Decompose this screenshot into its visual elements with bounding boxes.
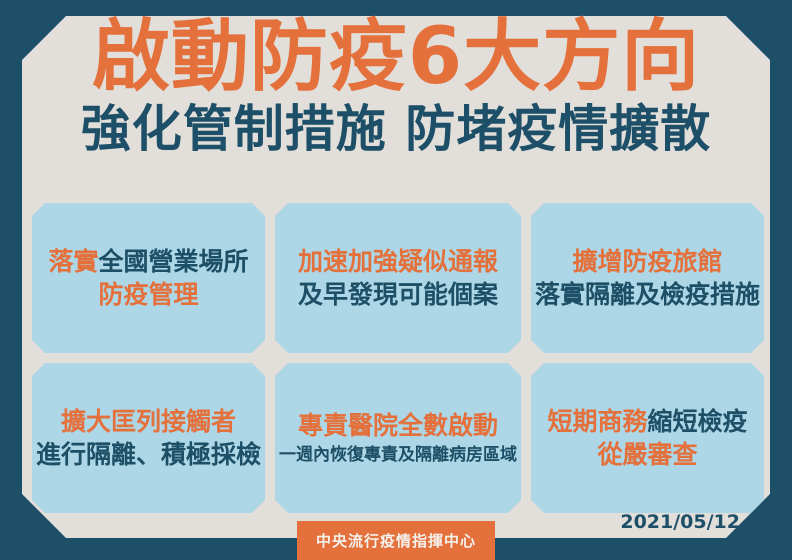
measure-card-segment: 加速加強疑似通報 xyxy=(298,247,498,276)
measure-card-segment: 專責醫院全數啟動 xyxy=(298,411,498,440)
poster-root: 啟動防疫6大方向 強化管制措施 防堵疫情擴散 落實全國營業場所防疫管理加速加強疑… xyxy=(0,0,792,560)
measure-card-line: 落實全國營業場所 xyxy=(48,245,248,278)
measure-card-line: 一週內恢復專責及隔離病房區域 xyxy=(279,442,517,468)
measure-card-line: 進行隔離、積極採檢 xyxy=(36,438,261,471)
measure-card-line: 短期商務縮短檢疫 xyxy=(548,405,748,438)
measure-card-segment: 擴大匡列接觸者 xyxy=(61,407,236,436)
measure-card: 短期商務縮短檢疫從嚴審查 xyxy=(531,363,764,513)
headline-block: 啟動防疫6大方向 強化管制措施 防堵疫情擴散 xyxy=(0,14,792,158)
measure-card-segment: 從嚴審查 xyxy=(598,440,698,469)
measure-card-line: 專責醫院全數啟動 xyxy=(298,409,498,442)
measure-card: 擴大匡列接觸者進行隔離、積極採檢 xyxy=(32,363,265,513)
date-stamp: 2021/05/12 xyxy=(620,511,740,533)
measure-card-segment: 全國營業場所 xyxy=(99,247,249,276)
agency-badge: 中央流行疫情指揮中心 xyxy=(297,521,495,560)
measure-card-segment: 落實 xyxy=(48,247,98,276)
measure-card-line: 防疫管理 xyxy=(99,278,199,311)
page-title: 啟動防疫6大方向 xyxy=(0,14,792,100)
measure-card-line: 及早發現可能個案 xyxy=(298,278,498,311)
measures-grid: 落實全國營業場所防疫管理加速加強疑似通報及早發現可能個案擴增防疫旅館落實隔離及檢… xyxy=(32,203,760,503)
measure-card-segment: 及早發現可能個案 xyxy=(298,280,498,309)
measure-card-segment: 進行隔離、積極採檢 xyxy=(36,440,261,469)
measure-card-segment: 擴增防疫旅館 xyxy=(573,247,723,276)
measure-card: 落實全國營業場所防疫管理 xyxy=(32,203,265,353)
agency-badge-label: 中央流行疫情指揮中心 xyxy=(316,530,476,551)
measure-card-line: 擴大匡列接觸者 xyxy=(61,405,236,438)
measure-card-segment: 防疫管理 xyxy=(99,280,199,309)
measure-card-line: 從嚴審查 xyxy=(598,438,698,471)
page-subtitle: 強化管制措施 防堵疫情擴散 xyxy=(0,100,792,158)
measure-card-segment: 落實隔離及檢疫措施 xyxy=(535,280,760,309)
measure-card-segment: 一週內恢復專責及隔離病房區域 xyxy=(279,445,517,465)
measure-card: 加速加強疑似通報及早發現可能個案 xyxy=(275,203,521,353)
measure-card-segment: 短期商務 xyxy=(548,407,648,436)
measure-card: 專責醫院全數啟動一週內恢復專責及隔離病房區域 xyxy=(275,363,521,513)
measure-card: 擴增防疫旅館落實隔離及檢疫措施 xyxy=(531,203,764,353)
measure-card-line: 落實隔離及檢疫措施 xyxy=(535,278,760,311)
measure-card-segment: 縮短檢疫 xyxy=(648,407,748,436)
measure-card-line: 加速加強疑似通報 xyxy=(298,245,498,278)
measure-card-line: 擴增防疫旅館 xyxy=(573,245,723,278)
